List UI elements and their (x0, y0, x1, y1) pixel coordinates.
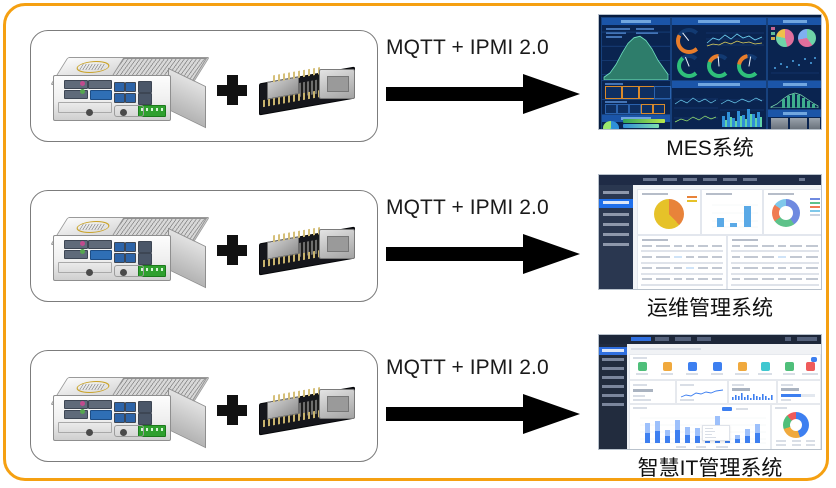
dashboard-label-it: 智慧IT管理系统 (598, 452, 822, 482)
arrow-icon (386, 234, 580, 274)
it-donut-card (771, 404, 821, 450)
ops-table-right[interactable] (727, 235, 822, 290)
device-card[interactable] (30, 190, 378, 302)
ipmi-module-icon (259, 67, 359, 111)
device-combo (31, 351, 379, 463)
ops-pie-card (637, 189, 701, 235)
flow-row-it: MQTT + IPMI 2.0 (0, 328, 836, 483)
plus-sign (217, 75, 247, 105)
it-kpi-card-3 (728, 380, 777, 404)
device-card[interactable] (30, 30, 378, 142)
it-bar-chart (634, 414, 766, 446)
flow-arrow-group: MQTT + IPMI 2.0 (386, 36, 586, 136)
arrow-icon (386, 74, 580, 114)
dashboard-label-ops: 运维管理系统 (598, 292, 822, 322)
ipmi-module-icon (259, 387, 359, 431)
industrial-pc-icon (53, 57, 203, 119)
device-combo (31, 191, 379, 303)
arrow-label: MQTT + IPMI 2.0 (386, 356, 586, 380)
flow-arrow-group: MQTT + IPMI 2.0 (386, 196, 586, 296)
it-bar-chart-card (629, 404, 771, 450)
mes-multi-line (674, 90, 718, 128)
ops-donut-chart (772, 199, 800, 227)
ops-table-left[interactable] (637, 235, 727, 290)
it-donut-chart (783, 412, 809, 438)
plus-sign (217, 235, 247, 265)
ops-sidebar[interactable] (599, 185, 633, 289)
arrow-label: MQTT + IPMI 2.0 (386, 196, 586, 220)
mes-hist (770, 90, 820, 108)
mes-area-chart (602, 18, 670, 80)
mes-line-chart (706, 27, 764, 51)
flow-arrow-group: MQTT + IPMI 2.0 (386, 356, 586, 456)
dashboard-thumbnail-ops[interactable] (598, 174, 822, 290)
ops-pie-chart (654, 199, 684, 229)
ipmi-module-icon (259, 227, 359, 271)
industrial-pc-icon (53, 217, 203, 279)
flow-row-ops: MQTT + IPMI 2.0 (0, 168, 836, 323)
dashboard-thumbnail-it[interactable] (598, 334, 822, 450)
dashboard-label-mes: MES系统 (598, 132, 822, 162)
arrow-label: MQTT + IPMI 2.0 (386, 36, 586, 60)
mes-scatter (771, 50, 819, 78)
it-kpi-card-4 (777, 380, 821, 404)
arrow-icon (386, 394, 580, 434)
it-status-icons-card (629, 354, 821, 380)
ops-bar-card (701, 189, 763, 235)
plus-sign (217, 395, 247, 425)
ops-bar-chart (706, 199, 758, 231)
industrial-pc-icon (53, 377, 203, 439)
it-kpi-card-2 (676, 380, 728, 404)
it-minibars (732, 392, 773, 400)
device-card[interactable] (30, 350, 378, 462)
it-sparkline (680, 389, 724, 399)
dashboard-thumbnail-mes[interactable] (598, 14, 822, 130)
it-kpi-card-1 (629, 380, 676, 404)
mes-pie-b (798, 29, 816, 47)
mes-pie-a (776, 29, 794, 47)
it-chart-tooltip (702, 425, 730, 441)
device-combo (31, 31, 379, 143)
mes-3d-pie (603, 121, 619, 130)
mes-bar-chart (720, 90, 764, 128)
it-sidebar[interactable] (599, 344, 627, 449)
ops-donut-card (763, 189, 822, 235)
flow-row-mes: MQTT + IPMI 2.0 (0, 8, 836, 163)
